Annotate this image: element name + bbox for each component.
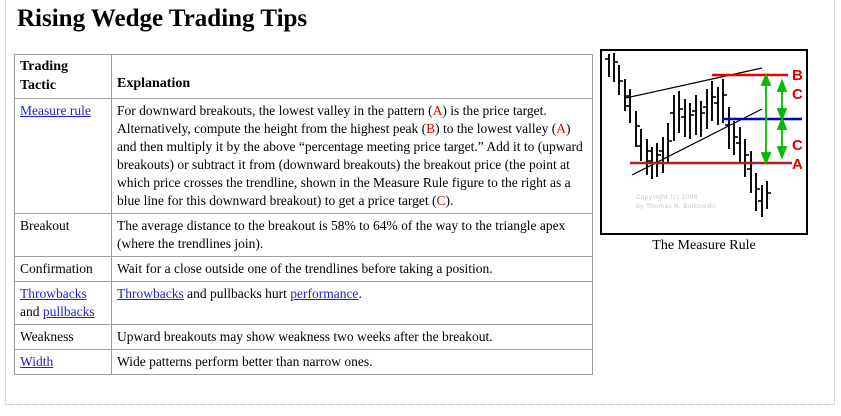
chart-container: B C C A Copyright (c) 2006 by Thomas N. … <box>600 49 808 235</box>
price-point-label: B <box>426 121 435 136</box>
rising-wedge-chart: B C C A Copyright (c) 2006 by Thomas N. … <box>602 51 802 229</box>
trading-tips-table: Trading Tactic Explanation Measure ruleF… <box>14 54 593 375</box>
explanation-link[interactable]: performance <box>290 286 358 301</box>
tactic-cell: Weakness <box>15 324 112 349</box>
column-header-tactic-line1: Trading <box>20 59 68 74</box>
explanation-cell: Wait for a close outside one of the tren… <box>112 256 593 281</box>
explanation-cell: For downward breakouts, the lowest valle… <box>112 99 593 214</box>
explanation-text: and pullbacks hurt <box>184 286 290 301</box>
price-point-label: C <box>437 193 446 208</box>
page-title: Rising Wedge Trading Tips <box>17 5 307 33</box>
price-point-label: A <box>433 103 443 118</box>
explanation-cell: Throwbacks and pullbacks hurt performanc… <box>112 281 593 324</box>
tactic-label: Breakout <box>20 218 70 233</box>
explanation-cell: Wide patterns perform better than narrow… <box>112 349 593 374</box>
table-body: Measure ruleFor downward breakouts, the … <box>15 99 593 374</box>
label-b: B <box>792 67 802 84</box>
explanation-text: . <box>358 286 361 301</box>
tactic-link-pullbacks[interactable]: pullbacks <box>43 304 95 319</box>
tactic-cell: Confirmation <box>15 256 112 281</box>
tactic-link[interactable]: Width <box>20 354 53 369</box>
explanation-cell: Upward breakouts may show weakness two w… <box>112 324 593 349</box>
column-header-tactic-line2: Tactic <box>20 78 56 93</box>
figure-caption: The Measure Rule <box>600 238 808 254</box>
tactic-cell: Throwbacks and pullbacks <box>15 281 112 324</box>
explanation-text: Wide patterns perform better than narrow… <box>117 354 373 369</box>
explanation-link[interactable]: Throwbacks <box>117 286 184 301</box>
table-row: Throwbacks and pullbacksThrowbacks and p… <box>15 281 593 324</box>
explanation-cell: The average distance to the breakout is … <box>112 213 593 256</box>
explanation-text: For downward breakouts, the lowest valle… <box>117 103 433 118</box>
explanation-text: Wait for a close outside one of the tren… <box>117 261 493 276</box>
tactic-cell: Breakout <box>15 213 112 256</box>
table-row: ConfirmationWait for a close outside one… <box>15 256 593 281</box>
upper-trendline <box>626 68 762 98</box>
watermark-line1: Copyright (c) 2006 <box>636 194 698 201</box>
tactic-label: Confirmation <box>20 261 93 276</box>
price-bars <box>605 53 771 217</box>
label-c-lower: C <box>792 137 802 154</box>
tactic-label: Weakness <box>20 329 74 344</box>
price-point-label: A <box>556 121 566 136</box>
explanation-text: ) to the lowest valley ( <box>435 121 556 136</box>
table-row: WidthWide patterns perform better than n… <box>15 349 593 374</box>
table-row: BreakoutThe average distance to the brea… <box>15 213 593 256</box>
column-header-trading-tactic: Trading Tactic <box>15 55 112 99</box>
explanation-text: Upward breakouts may show weakness two w… <box>117 329 493 344</box>
measure-rule-figure: B C C A Copyright (c) 2006 by Thomas N. … <box>600 49 808 254</box>
tactic-cell: Measure rule <box>15 99 112 214</box>
label-c-upper: C <box>792 86 802 103</box>
explanation-text: ). <box>446 193 454 208</box>
table-row: WeaknessUpward breakouts may show weakne… <box>15 324 593 349</box>
tactic-link-throwbacks[interactable]: Throwbacks <box>20 286 87 301</box>
label-a: A <box>792 156 802 173</box>
tactic-text-and: and <box>20 304 43 319</box>
watermark-line2: by Thomas N. Bulkowski <box>636 203 716 210</box>
explanation-text: The average distance to the breakout is … <box>117 218 565 251</box>
tactic-cell: Width <box>15 349 112 374</box>
table-header-row: Trading Tactic Explanation <box>15 55 593 99</box>
table-row: Measure ruleFor downward breakouts, the … <box>15 99 593 214</box>
column-header-explanation: Explanation <box>112 55 593 99</box>
tactic-link[interactable]: Measure rule <box>20 103 91 118</box>
